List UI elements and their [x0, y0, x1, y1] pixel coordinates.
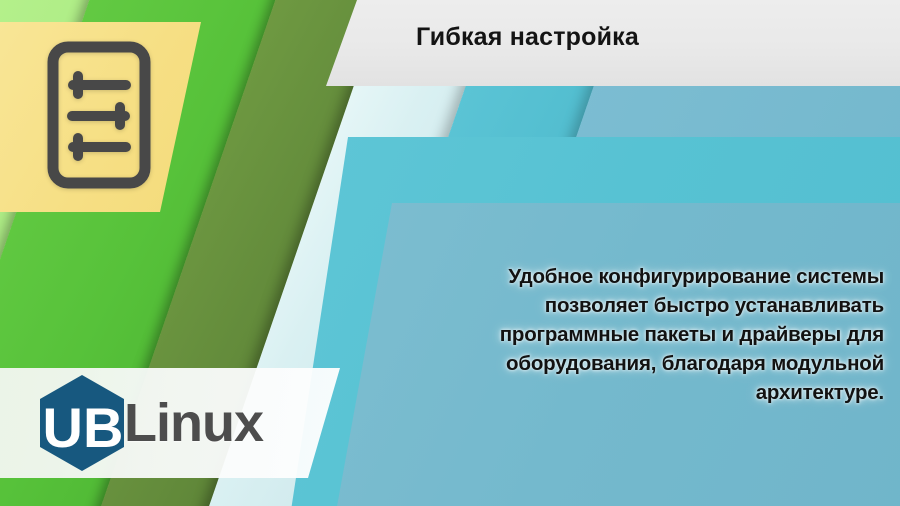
presentation-slide: UB Удобное конфигурирование системы позв… [0, 0, 900, 506]
settings-sliders-icon [46, 40, 152, 190]
slide-title: Гибкая настройка [416, 23, 639, 52]
ub-mark-text: UB [43, 396, 124, 459]
brand-logo: UB Linux [36, 374, 263, 472]
slide-body-text: Удобное конфигурирование системы позволя… [404, 262, 884, 408]
ub-hexagon-logo-icon: UB [36, 373, 128, 473]
brand-word-linux: Linux [124, 396, 263, 450]
